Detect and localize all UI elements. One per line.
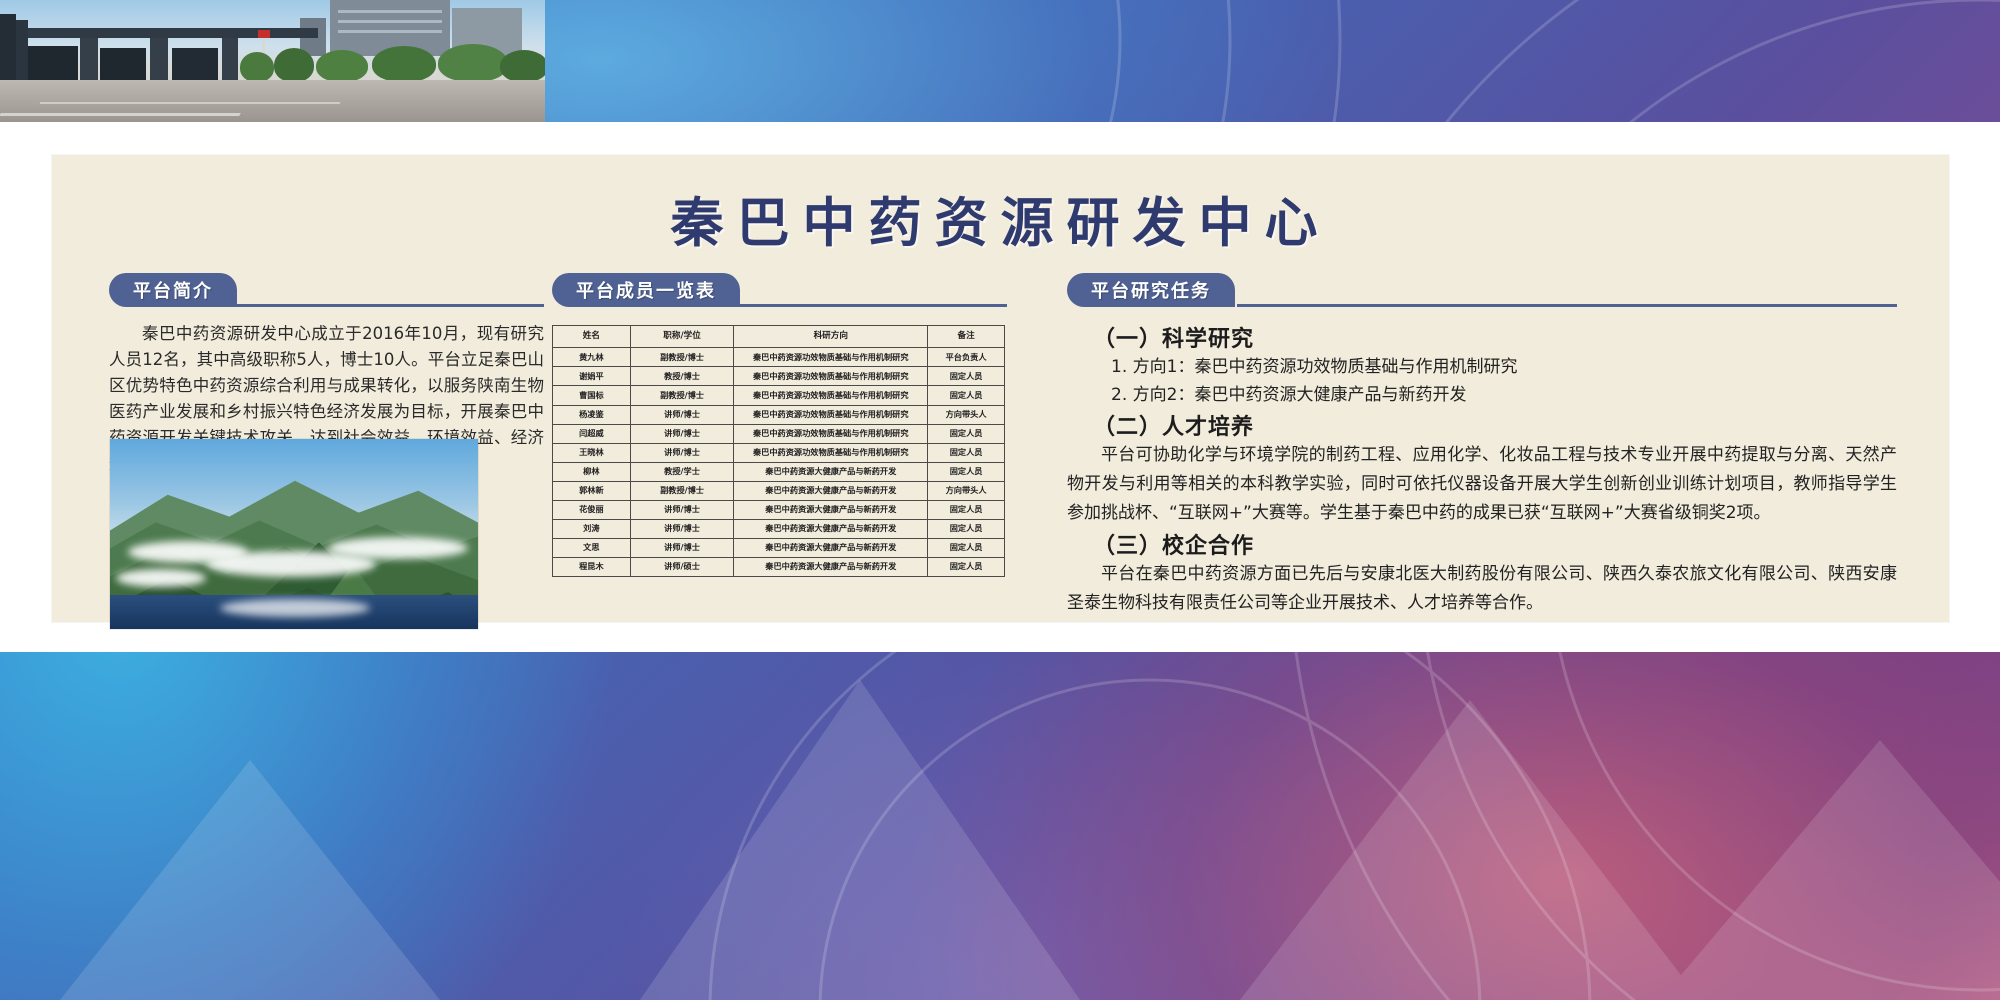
task-paragraph: 平台在秦巴中药资源方面已先后与安康北医大制药股份有限公司、陕西久泰农旅文化有限公… bbox=[1067, 560, 1897, 618]
cell-remark: 平台负责人 bbox=[928, 348, 1005, 367]
col-header-name: 姓名 bbox=[553, 326, 631, 348]
cell-remark: 固定人员 bbox=[928, 519, 1005, 538]
table-row: 闫超威讲师/博士秦巴中药资源功效物质基础与作用机制研究固定人员 bbox=[553, 424, 1005, 443]
cell-title: 副教授/博士 bbox=[630, 386, 734, 405]
table-row: 刘涛讲师/博士秦巴中药资源大健康产品与新药开发固定人员 bbox=[553, 519, 1005, 538]
cell-direction: 秦巴中药资源功效物质基础与作用机制研究 bbox=[734, 443, 928, 462]
poster-card: 秦巴中药资源研发中心 平台简介 秦巴中药资源研发中心成立于2016年10月，现有… bbox=[52, 155, 1949, 622]
table-row: 谢娟平教授/博士秦巴中药资源功效物质基础与作用机制研究固定人员 bbox=[553, 367, 1005, 386]
cell-remark: 固定人员 bbox=[928, 557, 1005, 576]
cell-remark: 固定人员 bbox=[928, 386, 1005, 405]
cell-title: 讲师/博士 bbox=[630, 538, 734, 557]
task-group-heading: （三）校企合作 bbox=[1093, 528, 1897, 560]
cell-name: 花俊丽 bbox=[553, 500, 631, 519]
mountain-photo bbox=[109, 438, 479, 630]
cell-remark: 固定人员 bbox=[928, 367, 1005, 386]
table-row: 柳林教授/学士秦巴中药资源大健康产品与新药开发固定人员 bbox=[553, 462, 1005, 481]
cell-direction: 秦巴中药资源功效物质基础与作用机制研究 bbox=[734, 386, 928, 405]
cell-remark: 固定人员 bbox=[928, 538, 1005, 557]
col-header-direction: 科研方向 bbox=[734, 326, 928, 348]
task-list-item: 1. 方向1：秦巴中药资源功效物质基础与作用机制研究 bbox=[1111, 353, 1897, 381]
cell-title: 讲师/博士 bbox=[630, 424, 734, 443]
cell-remark: 固定人员 bbox=[928, 424, 1005, 443]
cell-direction: 秦巴中药资源功效物质基础与作用机制研究 bbox=[734, 348, 928, 367]
cell-name: 谢娟平 bbox=[553, 367, 631, 386]
table-row: 黄九林副教授/博士秦巴中药资源功效物质基础与作用机制研究平台负责人 bbox=[553, 348, 1005, 367]
cell-direction: 秦巴中药资源大健康产品与新药开发 bbox=[734, 462, 928, 481]
col-header-title: 职称/学位 bbox=[630, 326, 734, 348]
cell-remark: 固定人员 bbox=[928, 462, 1005, 481]
table-row: 杨凌鉴讲师/博士秦巴中药资源功效物质基础与作用机制研究方向带头人 bbox=[553, 405, 1005, 424]
task-paragraph: 平台可协助化学与环境学院的制药工程、应用化学、化妆品工程与技术专业开展中药提取与… bbox=[1067, 441, 1897, 528]
task-list-item: 2. 方向2：秦巴中药资源大健康产品与新药开发 bbox=[1111, 381, 1897, 409]
cell-remark: 固定人员 bbox=[928, 500, 1005, 519]
cell-title: 副教授/博士 bbox=[630, 348, 734, 367]
cell-title: 讲师/博士 bbox=[630, 500, 734, 519]
members-table: 姓名 职称/学位 科研方向 备注 黄九林副教授/博士秦巴中药资源功效物质基础与作… bbox=[552, 325, 1005, 577]
cell-direction: 秦巴中药资源功效物质基础与作用机制研究 bbox=[734, 424, 928, 443]
col-header-remark: 备注 bbox=[928, 326, 1005, 348]
cell-name: 郭林新 bbox=[553, 481, 631, 500]
cell-name: 程昆木 bbox=[553, 557, 631, 576]
cell-title: 讲师/博士 bbox=[630, 443, 734, 462]
table-row: 程昆木讲师/硕士秦巴中药资源大健康产品与新药开发固定人员 bbox=[553, 557, 1005, 576]
cell-name: 刘涛 bbox=[553, 519, 631, 538]
table-row: 花俊丽讲师/博士秦巴中药资源大健康产品与新药开发固定人员 bbox=[553, 500, 1005, 519]
tasks-column: （一）科学研究1. 方向1：秦巴中药资源功效物质基础与作用机制研究2. 方向2：… bbox=[1067, 273, 1897, 618]
cell-name: 王晓林 bbox=[553, 443, 631, 462]
table-row: 郭林新副教授/博士秦巴中药资源大健康产品与新药开发方向带头人 bbox=[553, 481, 1005, 500]
cell-direction: 秦巴中药资源大健康产品与新药开发 bbox=[734, 557, 928, 576]
cell-title: 教授/博士 bbox=[630, 367, 734, 386]
task-group-heading: （一）科学研究 bbox=[1093, 321, 1897, 353]
cell-direction: 秦巴中药资源大健康产品与新药开发 bbox=[734, 481, 928, 500]
table-row: 曹国标副教授/博士秦巴中药资源功效物质基础与作用机制研究固定人员 bbox=[553, 386, 1005, 405]
cell-name: 闫超威 bbox=[553, 424, 631, 443]
rule-members bbox=[720, 304, 1007, 307]
cell-remark: 方向带头人 bbox=[928, 481, 1005, 500]
table-row: 王晓林讲师/博士秦巴中药资源功效物质基础与作用机制研究固定人员 bbox=[553, 443, 1005, 462]
cell-direction: 秦巴中药资源功效物质基础与作用机制研究 bbox=[734, 367, 928, 386]
cell-name: 黄九林 bbox=[553, 348, 631, 367]
cell-remark: 固定人员 bbox=[928, 443, 1005, 462]
poster-background: 秦巴中药资源研发中心 平台简介 秦巴中药资源研发中心成立于2016年10月，现有… bbox=[0, 0, 2000, 1000]
cell-direction: 秦巴中药资源大健康产品与新药开发 bbox=[734, 538, 928, 557]
cell-name: 文思 bbox=[553, 538, 631, 557]
cell-remark: 方向带头人 bbox=[928, 405, 1005, 424]
cell-title: 副教授/博士 bbox=[630, 481, 734, 500]
cell-title: 教授/学士 bbox=[630, 462, 734, 481]
cell-name: 曹国标 bbox=[553, 386, 631, 405]
table-header-row: 姓名 职称/学位 科研方向 备注 bbox=[553, 326, 1005, 348]
task-group-heading: （二）人才培养 bbox=[1093, 409, 1897, 441]
cell-title: 讲师/博士 bbox=[630, 519, 734, 538]
cell-direction: 秦巴中药资源大健康产品与新药开发 bbox=[734, 500, 928, 519]
cell-title: 讲师/硕士 bbox=[630, 557, 734, 576]
page-title: 秦巴中药资源研发中心 bbox=[52, 181, 1949, 257]
cell-direction: 秦巴中药资源功效物质基础与作用机制研究 bbox=[734, 405, 928, 424]
cell-name: 柳林 bbox=[553, 462, 631, 481]
cell-title: 讲师/博士 bbox=[630, 405, 734, 424]
cell-direction: 秦巴中药资源大健康产品与新药开发 bbox=[734, 519, 928, 538]
section-header-members: 平台成员一览表 bbox=[552, 273, 1007, 307]
table-row: 文思讲师/博士秦巴中药资源大健康产品与新药开发固定人员 bbox=[553, 538, 1005, 557]
pill-members: 平台成员一览表 bbox=[552, 273, 740, 307]
campus-gate-photo bbox=[0, 0, 545, 122]
cell-name: 杨凌鉴 bbox=[553, 405, 631, 424]
